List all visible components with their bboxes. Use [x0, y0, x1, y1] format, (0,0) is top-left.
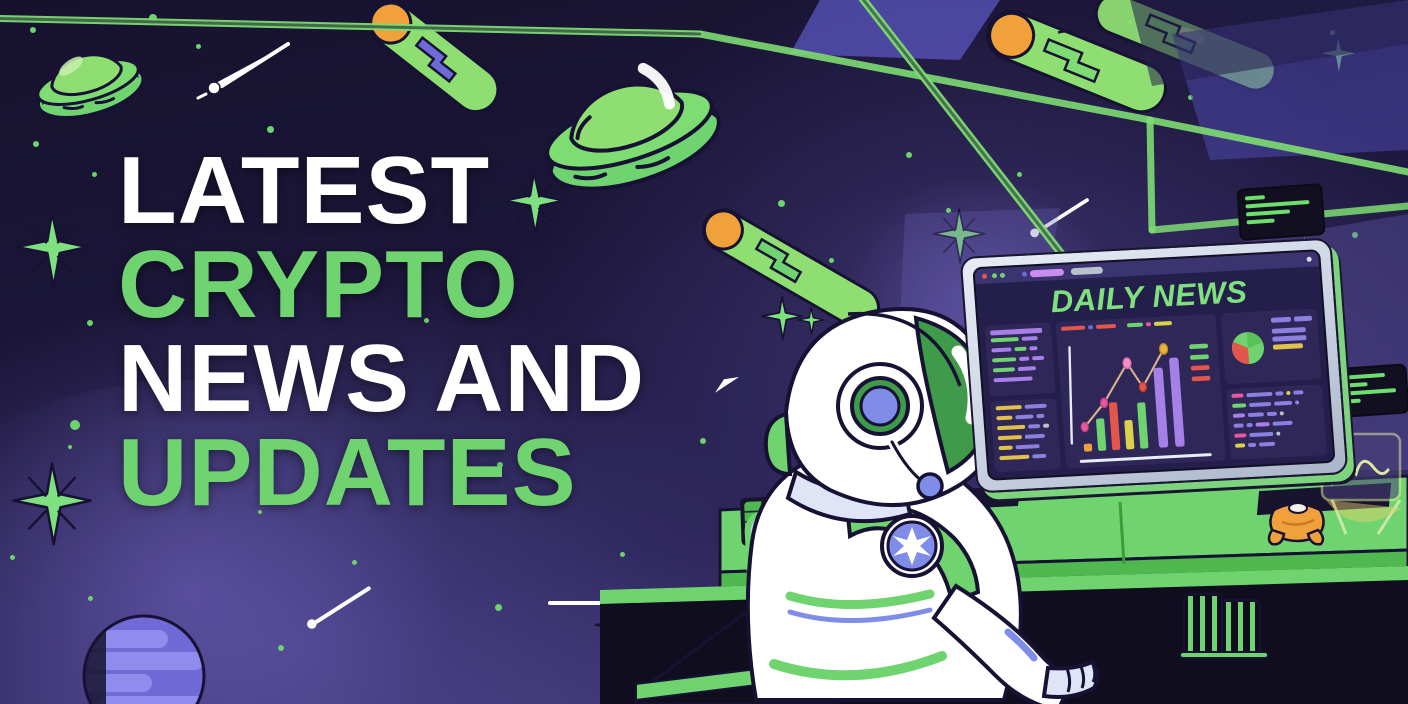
headline-line-4: UPDATES	[118, 426, 645, 520]
dashboard-right-column	[1220, 308, 1327, 460]
dashboard	[979, 308, 1334, 479]
traffic-light-min[interactable]	[992, 273, 997, 278]
headline-line-2: CRYPTO	[118, 238, 645, 332]
panel-pie[interactable]	[1220, 308, 1321, 384]
address-bar[interactable]	[1071, 267, 1103, 276]
headline-line-3: NEWS AND	[118, 332, 645, 426]
bar-series	[1078, 357, 1185, 451]
pie-chart	[1226, 327, 1269, 369]
browser-indicator-dot	[1022, 272, 1027, 277]
chart-y-axis	[1065, 348, 1077, 443]
chart-legend	[1189, 344, 1210, 382]
headline-line-1: LATEST	[118, 144, 645, 238]
browser-menu-dot[interactable]	[1306, 257, 1311, 262]
chart-panel[interactable]	[1056, 314, 1227, 469]
chart-footer-rail	[1080, 453, 1212, 463]
monitor-screen[interactable]: DAILY NEWS	[972, 249, 1335, 481]
combo-chart-svg	[1062, 328, 1221, 456]
panel-left-top[interactable]	[985, 322, 1056, 396]
dashboard-center-column	[1056, 314, 1227, 469]
terminal-top-right	[1236, 183, 1325, 241]
poster-canvas: DAILY NEWS	[0, 0, 1408, 704]
monitor[interactable]: DAILY NEWS	[960, 238, 1349, 494]
canister-object	[1178, 586, 1270, 658]
traffic-light-max[interactable]	[1000, 273, 1005, 278]
browser-tab[interactable]	[1030, 269, 1064, 278]
panel-table[interactable]	[1226, 384, 1327, 460]
dashboard-left-column	[985, 322, 1062, 472]
panel-left-bottom[interactable]	[990, 398, 1061, 472]
page-title: LATEST CRYPTO NEWS AND UPDATES	[118, 144, 645, 520]
desk-plant-object	[1262, 492, 1332, 548]
traffic-light-close[interactable]	[982, 274, 987, 279]
combo-chart[interactable]	[1062, 328, 1221, 456]
